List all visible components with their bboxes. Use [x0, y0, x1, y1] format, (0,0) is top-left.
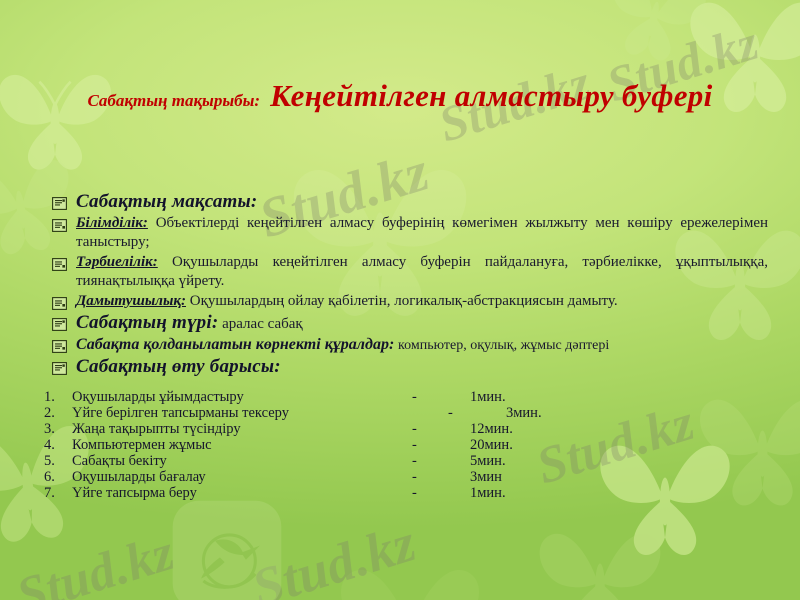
bullet-heading: Сабақтың мақсаты:: [76, 191, 257, 212]
schedule-task: Оқушыларды бағалау: [72, 469, 412, 486]
bullet-row: Сабақтың мақсаты:: [52, 192, 768, 213]
schedule-dash: -: [412, 485, 470, 502]
schedule-number: 7.: [44, 485, 72, 502]
schedule-row: 1. Оқушыларды ұйымдастыру - 1мин.: [44, 389, 664, 405]
schedule-time: 3мин.: [506, 405, 542, 422]
bullet-label: Дамытушылық:: [76, 293, 186, 309]
bullet-row: Дамытушылық: Оқушылардың ойлау қабілетін…: [52, 292, 768, 311]
title-main: Кеңейтілген алмастыру буфері: [260, 78, 712, 113]
presentation-slide: Stud.kz Stud.kz Stud.kz Stud.kz Stud.kz …: [0, 0, 800, 600]
document-bullet-icon: [52, 340, 67, 353]
slide-title: Сабақтың тақырыбы:Кеңейтілген алмастыру …: [0, 78, 800, 114]
bullet-text: Тәрбиелілік: Оқушыларды кеңейтілген алма…: [76, 253, 768, 291]
slide-content: Сабақтың тақырыбы:Кеңейтілген алмастыру …: [0, 0, 800, 600]
bullet-body: Оқушыларды кеңейтілген алмасу буферін па…: [76, 254, 768, 289]
schedule-time: 1мин.: [470, 389, 506, 406]
schedule-number: 2.: [44, 405, 72, 422]
schedule-dash: -: [412, 453, 470, 470]
bullet-body: компьютер, оқулық, жұмыс дәптері: [398, 338, 609, 353]
bullet-heading: Сабақта қолданылатын көрнекті құралдар:: [76, 336, 394, 353]
schedule-task: Үйге тапсырма беру: [72, 485, 412, 502]
document-bullet-icon: [52, 219, 67, 232]
bullet-text: Сабақтың түрі: аралас сабақ: [76, 313, 768, 334]
bullet-text: Дамытушылық: Оқушылардың ойлау қабілетін…: [76, 292, 768, 311]
schedule-number: 3.: [44, 421, 72, 438]
schedule-row: 4. Компьютермен жұмыс - 20мин.: [44, 437, 664, 453]
schedule-time: 3мин: [470, 469, 502, 486]
schedule-dash: -: [412, 437, 470, 454]
schedule-number: 1.: [44, 389, 72, 406]
schedule-number: 5.: [44, 453, 72, 470]
schedule-dash: -: [412, 469, 470, 486]
bullet-text: Сабақтың өту барысы:: [76, 357, 768, 378]
schedule-row: 5. Сабақты бекіту - 5мин.: [44, 453, 664, 469]
schedule-task: Жаңа тақырыпты түсіндіру: [72, 421, 412, 438]
schedule-task: Сабақты бекіту: [72, 453, 412, 470]
schedule-task: Компьютермен жұмыс: [72, 437, 412, 454]
bullet-row: Тәрбиелілік: Оқушыларды кеңейтілген алма…: [52, 253, 768, 291]
schedule-row: 3. Жаңа тақырыпты түсіндіру - 12мин.: [44, 421, 664, 437]
schedule-row: 7. Үйге тапсырма беру - 1мин.: [44, 485, 664, 501]
bullet-row: Сабақта қолданылатын көрнекті құралдар: …: [52, 335, 768, 355]
bullet-text: Білімділік: Объектілерді кеңейтілген алм…: [76, 214, 768, 252]
bullet-body: аралас сабақ: [222, 316, 303, 332]
document-bullet-icon: [52, 318, 67, 331]
document-bullet-icon: [52, 258, 67, 271]
schedule-dash: -: [412, 389, 470, 406]
bullet-body: Объектілерді кеңейтілген алмасу буферіні…: [76, 215, 768, 250]
schedule-time: 5мин.: [470, 453, 506, 470]
lesson-schedule-list: 1. Оқушыларды ұйымдастыру - 1мин. 2. Үйг…: [44, 389, 664, 501]
schedule-task: Үйге берілген тапсырманы тексеру: [72, 405, 412, 422]
bullet-text: Сабақтың мақсаты:: [76, 192, 768, 213]
bullet-list: Сабақтың мақсаты: Білімділік: Объек: [52, 192, 768, 379]
schedule-number: 4.: [44, 437, 72, 454]
schedule-dash: -: [412, 421, 470, 438]
schedule-row: 6. Оқушыларды бағалау - 3мин: [44, 469, 664, 485]
bullet-body: Оқушылардың ойлау қабілетін, логикалық-а…: [190, 293, 618, 309]
bullet-row: Сабақтың өту барысы:: [52, 357, 768, 378]
bullet-row: Сабақтың түрі: аралас сабақ: [52, 313, 768, 334]
title-prefix: Сабақтың тақырыбы:: [87, 91, 260, 110]
bullet-heading: Сабақтың өту барысы:: [76, 356, 281, 377]
document-bullet-icon: [52, 362, 67, 375]
schedule-time: 1мин.: [470, 485, 506, 502]
bullet-heading: Сабақтың түрі:: [76, 312, 218, 333]
schedule-row: 2. Үйге берілген тапсырманы тексеру - 3м…: [44, 405, 664, 421]
schedule-time: 20мин.: [470, 437, 513, 454]
bullet-label: Тәрбиелілік:: [76, 254, 158, 270]
schedule-task: Оқушыларды ұйымдастыру: [72, 389, 412, 406]
bullet-text: Сабақта қолданылатын көрнекті құралдар: …: [76, 335, 768, 355]
document-bullet-icon: [52, 197, 67, 210]
schedule-time: 12мин.: [470, 421, 513, 438]
schedule-dash: -: [412, 405, 506, 422]
bullet-row: Білімділік: Объектілерді кеңейтілген алм…: [52, 214, 768, 252]
document-bullet-icon: [52, 297, 67, 310]
schedule-number: 6.: [44, 469, 72, 486]
bullet-label: Білімділік:: [76, 215, 148, 231]
